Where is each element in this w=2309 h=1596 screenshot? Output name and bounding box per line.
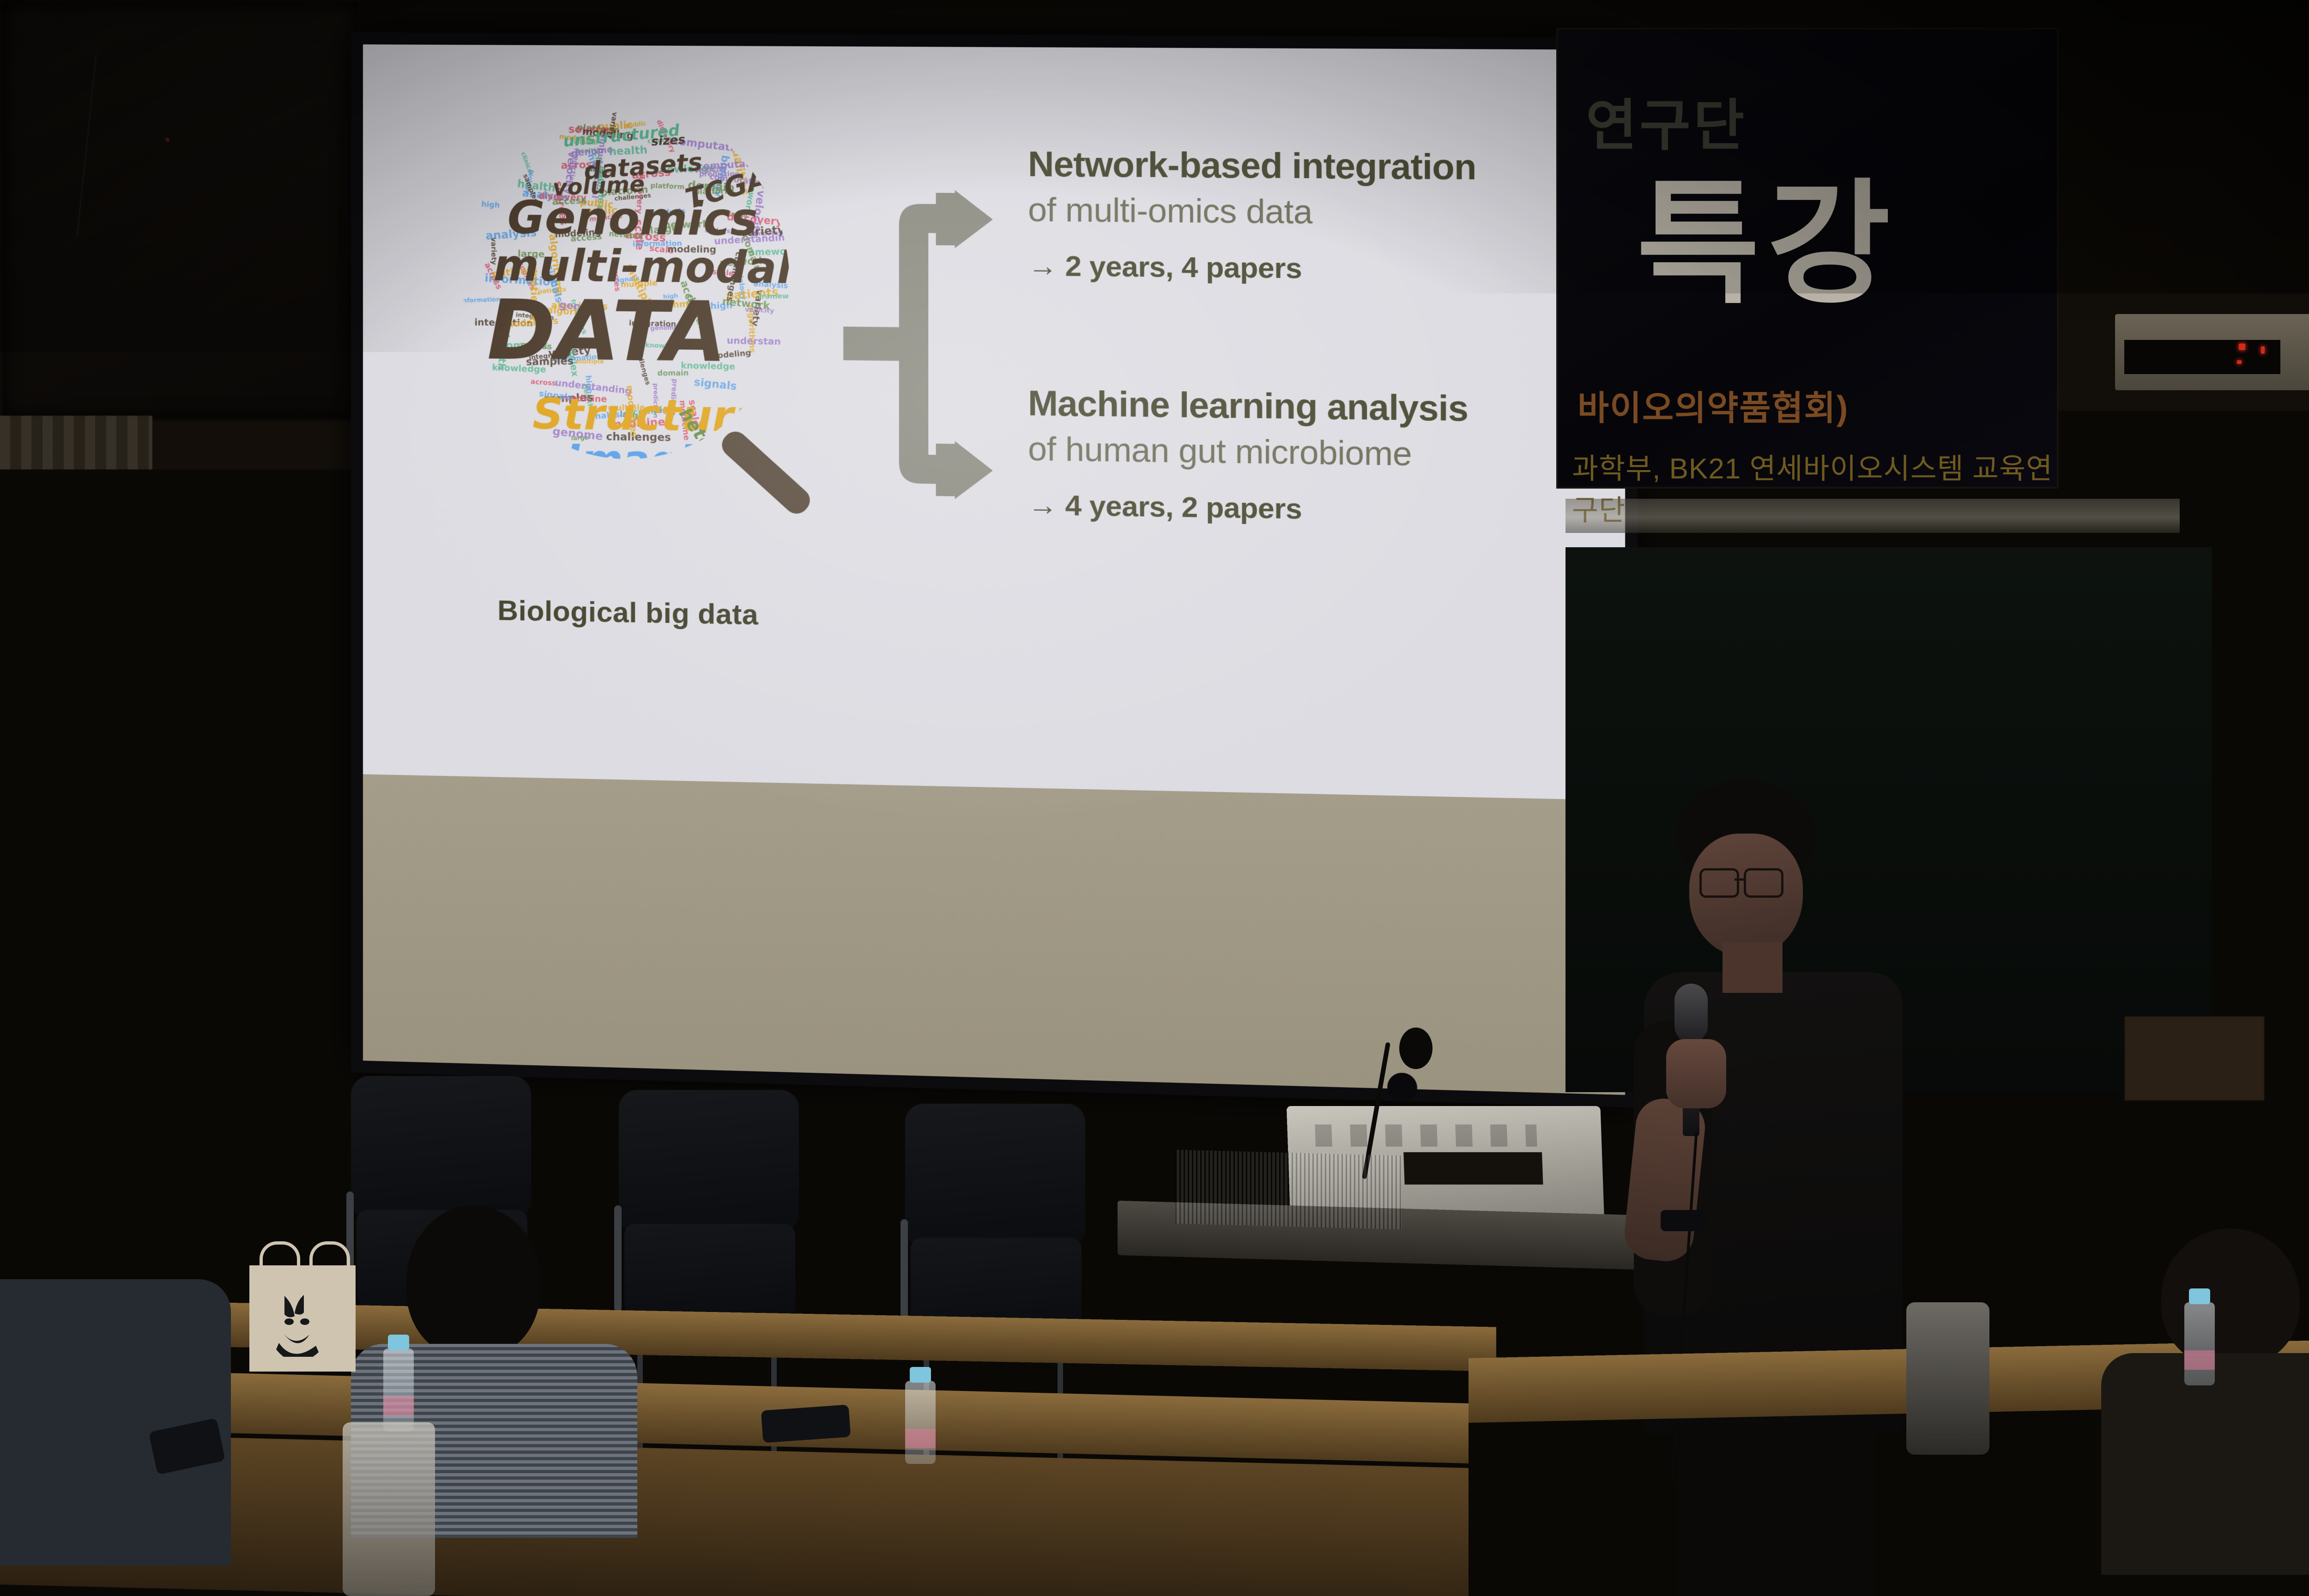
starbucks-siren-logo: [275, 1288, 335, 1357]
bottle-label: [2184, 1350, 2215, 1370]
screen-unlit-area: [363, 774, 1625, 1095]
extinguisher-icon-right: [2287, 1162, 2300, 1182]
down-arrow-icon: [2265, 1161, 2288, 1186]
chair-arm-left: [901, 1219, 908, 1325]
ceiling-monitor: [0, 0, 361, 421]
magnifier-lens: analysisalgorithmsacrosshealthlargecompu…: [463, 105, 790, 461]
bag-handle-right: [309, 1241, 350, 1272]
travel-tumbler: [1906, 1302, 1989, 1455]
event-banner: 연구단 특강 바이오의약품협회) 과학부, BK21 연세바이오시스템 교육연구…: [1556, 28, 2059, 489]
video-camera-foreground: [1926, 1415, 2309, 1596]
word-cloud-graphic: analysisalgorithmsacrosshealthlargecompu…: [446, 100, 810, 648]
extinguisher-icon-left: [2249, 1162, 2261, 1182]
wall-outlet-box: [2124, 1016, 2265, 1101]
bottle-cap: [2189, 1288, 2210, 1304]
led-indicator-2: [2237, 360, 2242, 364]
wristwatch: [1661, 1210, 1707, 1231]
banner-top-line: 연구단: [1586, 80, 1747, 161]
speaker-hand: [1666, 1039, 1726, 1108]
speaker-neck: [1723, 942, 1783, 993]
presentation-slide: analysisalgorithmsacrosshealthlargecompu…: [363, 44, 1600, 800]
camera-control-strip: [1946, 1438, 2269, 1468]
chalk-rail: [1566, 499, 2180, 533]
topic-2-subheading: of human gut microbiome: [1028, 430, 1567, 475]
word-cloud-minor-word: high: [481, 199, 500, 210]
word-cloud-word-1: multi-modal: [494, 241, 790, 294]
topic-block-2: Machine learning analysis of human gut m…: [1028, 385, 1567, 530]
chair-back: [619, 1090, 799, 1233]
water-bottle[interactable]: [905, 1381, 936, 1464]
chair-back: [351, 1076, 531, 1219]
word-cloud-minor-word: velocity: [745, 306, 774, 314]
topic-2-note: → 4 years, 2 papers: [1028, 489, 1567, 530]
bottle-cap: [388, 1335, 409, 1350]
lab-bench: [0, 928, 194, 993]
topic-block-1: Network-based integration of multi-omics…: [1028, 145, 1567, 288]
fire-sign-label: 소화기: [2245, 1126, 2304, 1147]
word-cloud-word-3: Structural: [532, 389, 778, 442]
hand-sanitizer-bottle: [115, 993, 142, 1053]
word-cloud-minor-word: platform: [650, 181, 685, 191]
starbucks-paper-bag: [249, 1265, 356, 1372]
wall-led-display: [2115, 314, 2309, 390]
bottle-label: [383, 1396, 414, 1416]
lab-bench-surface: [0, 988, 194, 1039]
fire-sign-pictogram: [2245, 1157, 2304, 1189]
led-indicator-1: [2239, 344, 2245, 350]
monitor-cable: [76, 54, 97, 238]
sanitizer-label: [116, 1026, 141, 1038]
topic-1-note: → 2 years, 4 papers: [1028, 249, 1567, 288]
projection-screen: analysisalgorithmsacrosshealthlargecompu…: [351, 32, 1638, 1108]
water-bottle[interactable]: [2184, 1302, 2215, 1385]
water-bottle[interactable]: [383, 1348, 414, 1432]
handheld-microphone-head: [1674, 984, 1708, 1043]
audience-head: [406, 1205, 540, 1358]
topic-1-subheading: of multi-omics data: [1028, 191, 1567, 233]
audience-head: [0, 1164, 139, 1298]
speaker-legs: [1676, 1422, 1875, 1596]
monitor-indicator-dot: [165, 138, 169, 142]
fire-extinguisher-sign: 소화기: [2242, 1123, 2307, 1191]
window-curtain: [0, 416, 152, 947]
word-cloud-minor-word: understanding: [726, 335, 790, 348]
monitor-vents: [1315, 1124, 1537, 1147]
led-indicator-3: [2261, 346, 2265, 354]
gooseneck-microphone-head: [1399, 1028, 1433, 1069]
word-cloud-caption: Biological big data: [446, 593, 810, 632]
chair-arm-left: [614, 1205, 622, 1312]
lecture-hall-photo: analysisalgorithmsacrosshealthlargecompu…: [0, 0, 2309, 1596]
word-cloud-word-7: volume: [552, 171, 645, 201]
word-cloud-word-8: Omics: [463, 406, 502, 461]
chair-back: [905, 1104, 1085, 1247]
bottle-label: [905, 1429, 936, 1448]
glasses-right-lens: [1744, 868, 1783, 898]
topic-2-heading: Machine learning analysis: [1028, 385, 1567, 429]
travel-tumbler: [343, 1422, 435, 1596]
word-cloud-word-0: DATA: [487, 282, 726, 381]
word-cloud-word-11: sizes: [651, 133, 686, 149]
split-arrow-icon: [843, 187, 999, 502]
glasses-left-lens: [1699, 868, 1739, 898]
banner-main-title: 특강: [1637, 177, 1898, 311]
banner-organization-line: 바이오의약품협회): [1578, 381, 1849, 430]
wall-panel-box: [2254, 914, 2309, 995]
sanitizer-pump: [122, 977, 136, 994]
wall-switch-box: [2235, 776, 2288, 828]
smartphone-on-desk[interactable]: [761, 1404, 851, 1443]
bag-handle-left: [260, 1241, 300, 1272]
glasses-bridge: [1735, 878, 1745, 881]
bottle-cap: [910, 1367, 931, 1383]
lectern-control-panel[interactable]: [1175, 1150, 1402, 1230]
fire-sign-subbar: [2245, 1148, 2304, 1155]
record-indicator-light: [1959, 1491, 1993, 1528]
audience-head: [2161, 1228, 2300, 1367]
screen-bottom-weight: [1387, 1072, 1417, 1102]
topic-1-heading: Network-based integration: [1028, 145, 1567, 187]
eyeglasses-icon: [1699, 868, 1787, 895]
led-display-screen: [2124, 340, 2280, 374]
monitor-stand-notch: [1403, 1152, 1543, 1185]
word-cloud-minor-word: across: [531, 378, 556, 388]
